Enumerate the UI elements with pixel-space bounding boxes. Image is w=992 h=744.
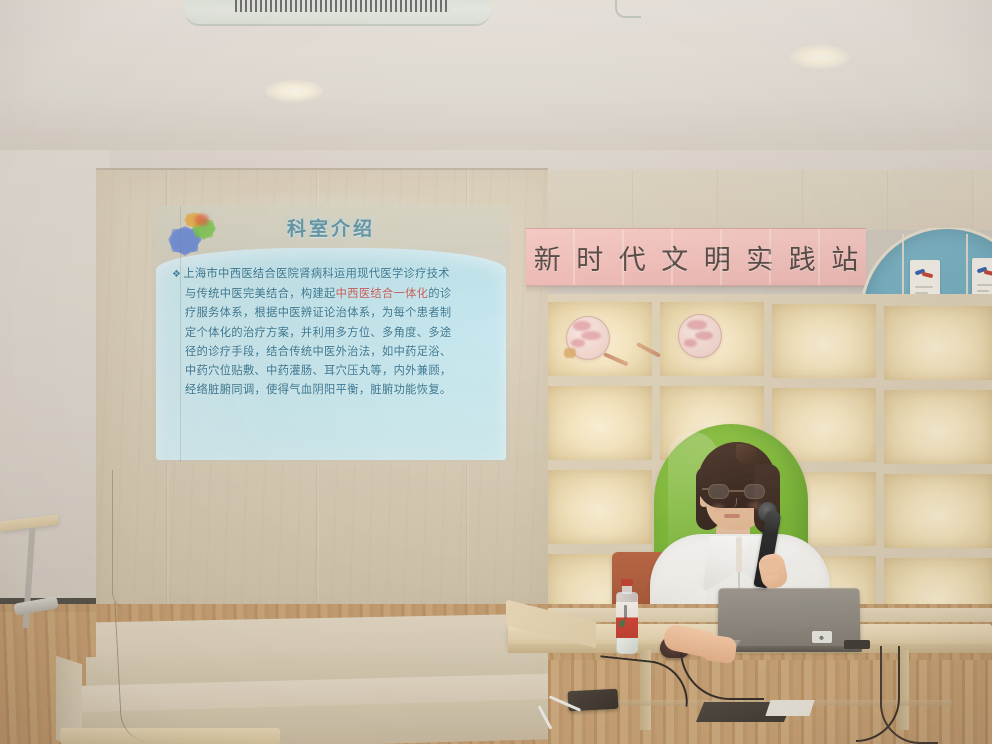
slide-line: 定个体化的治疗方案，并利用多方位、多角度、多途 [172,323,492,342]
wall-banner: 新 时 代 文 明 实 践 站 [526,228,866,286]
banner-char: 践 [789,238,816,277]
cheek [712,504,724,511]
slide-line: 上海市中西医结合医院肾病科运用现代医学诊疗技术 [183,267,450,280]
slide-line: 中药穴位贴敷、中药灌肠、耳穴压丸等，内外兼顾， [172,361,492,380]
slide-line: 疗服务体系，根据中医辨证论治体系，为每个患者制 [172,303,492,322]
eyebrow [712,479,726,481]
cable [880,646,938,744]
lecture-room-photo: 科室介绍 ❖上海市中西医结合医院肾病科运用现代医学诊疗技术 与传统中医完美结合，… [0,0,992,744]
banner-char: 站 [831,238,858,277]
banner-char: 明 [704,238,731,277]
shelf-niche [548,386,652,460]
mouth [724,514,740,518]
banner-char: 新 [534,238,561,277]
slide-line: 径的诊疗手段，结合传统中医外治法，如中药足浴、 [172,342,492,361]
ceiling [0,0,992,152]
ac-vent-corner [615,0,641,18]
ac-vent [185,0,490,26]
eyeglasses-icon [708,484,766,500]
slide-title: 科室介绍 [152,214,510,241]
fan-tassel [564,348,576,358]
water-bottle[interactable] [616,582,638,654]
hand-left [700,634,737,664]
decorative-fan [678,314,722,358]
banner-char: 文 [661,238,688,277]
cable [114,599,181,744]
right-upper-wall [548,170,992,230]
eyebrow [746,478,760,480]
wall-seam [180,206,181,462]
shelf-niche [884,474,992,548]
bottle-cap [621,579,633,586]
banner-char: 代 [619,238,646,277]
floor-paper [765,700,814,716]
ceiling-downlight [790,45,850,69]
slide-line: 与传统中医完美结合，构建起中西医结合一体化的诊 [172,284,492,303]
shelf-niche [884,306,992,380]
laptop-badge-graphic [815,633,828,641]
shelf-niche [548,470,652,544]
slide-line: 经络脏腑同调，使得气血阴阳平衡，脏腑功能恢复。 [172,380,492,399]
shelf-niche [772,304,876,378]
slide-body-text: ❖上海市中西医结合医院肾病科运用现代医学诊疗技术 与传统中医完美结合，构建起中西… [172,264,492,399]
shelf-niche [884,390,992,464]
cable [112,470,134,610]
ceiling-shadow [0,95,992,155]
projected-slide: 科室介绍 ❖上海市中西医结合医院肾病科运用现代医学诊疗技术 与传统中医完美结合，… [152,206,510,462]
banner-char: 实 [746,238,773,277]
left-wall [0,150,110,620]
ac-grille-icon [235,0,450,12]
banner-shadow [526,286,866,294]
banner-char: 时 [576,238,603,277]
